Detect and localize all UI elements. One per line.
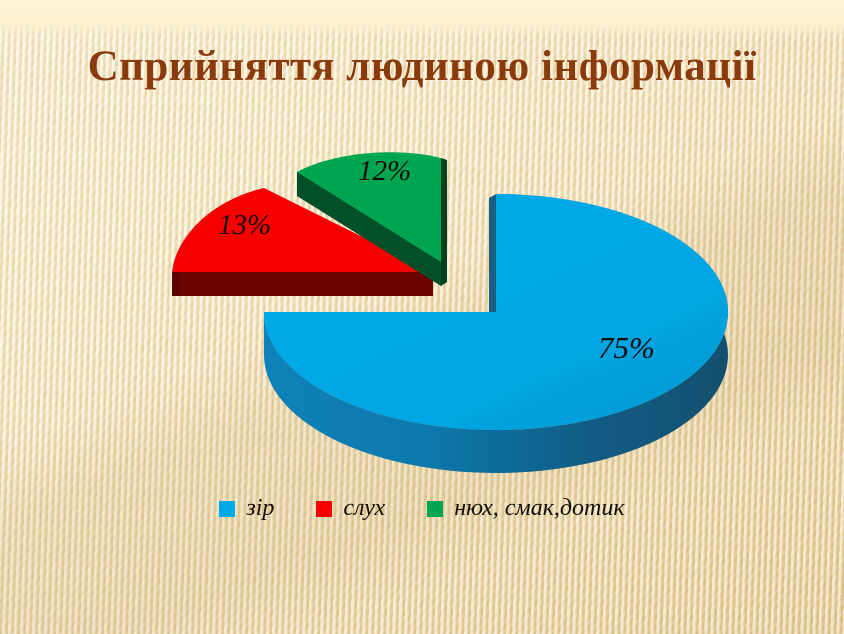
pie-slice-nyuh-side-right [441, 158, 447, 286]
slide-canvas: Сприйняття людиною інформації [0, 0, 844, 634]
chart-legend: зір слух нюх, смак,дотик [0, 495, 844, 522]
pie-chart-3d [0, 0, 844, 634]
legend-label-zir: зір [246, 495, 274, 522]
pie-slice-sluh-side [172, 272, 433, 296]
pie-label-nyuh-smak-dotyk: 12% [358, 155, 411, 188]
legend-swatch-zir [219, 501, 235, 517]
pie-slice-zir-notch-wall [489, 194, 496, 312]
pie-label-zir: 75% [598, 330, 655, 366]
legend-swatch-sluh [316, 501, 332, 517]
legend-item-sluh[interactable]: слух [316, 495, 385, 522]
legend-label-nyuh-smak-dotyk: нюх, смак,дотик [454, 495, 624, 522]
legend-swatch-nyuh-smak-dotyk [427, 501, 443, 517]
pie-label-sluh: 13% [218, 209, 271, 242]
pie-slice-sluh-side-left [172, 272, 180, 296]
legend-item-zir[interactable]: зір [219, 495, 274, 522]
legend-label-sluh: слух [343, 495, 385, 522]
legend-item-nyuh-smak-dotyk[interactable]: нюх, смак,дотик [427, 495, 624, 522]
